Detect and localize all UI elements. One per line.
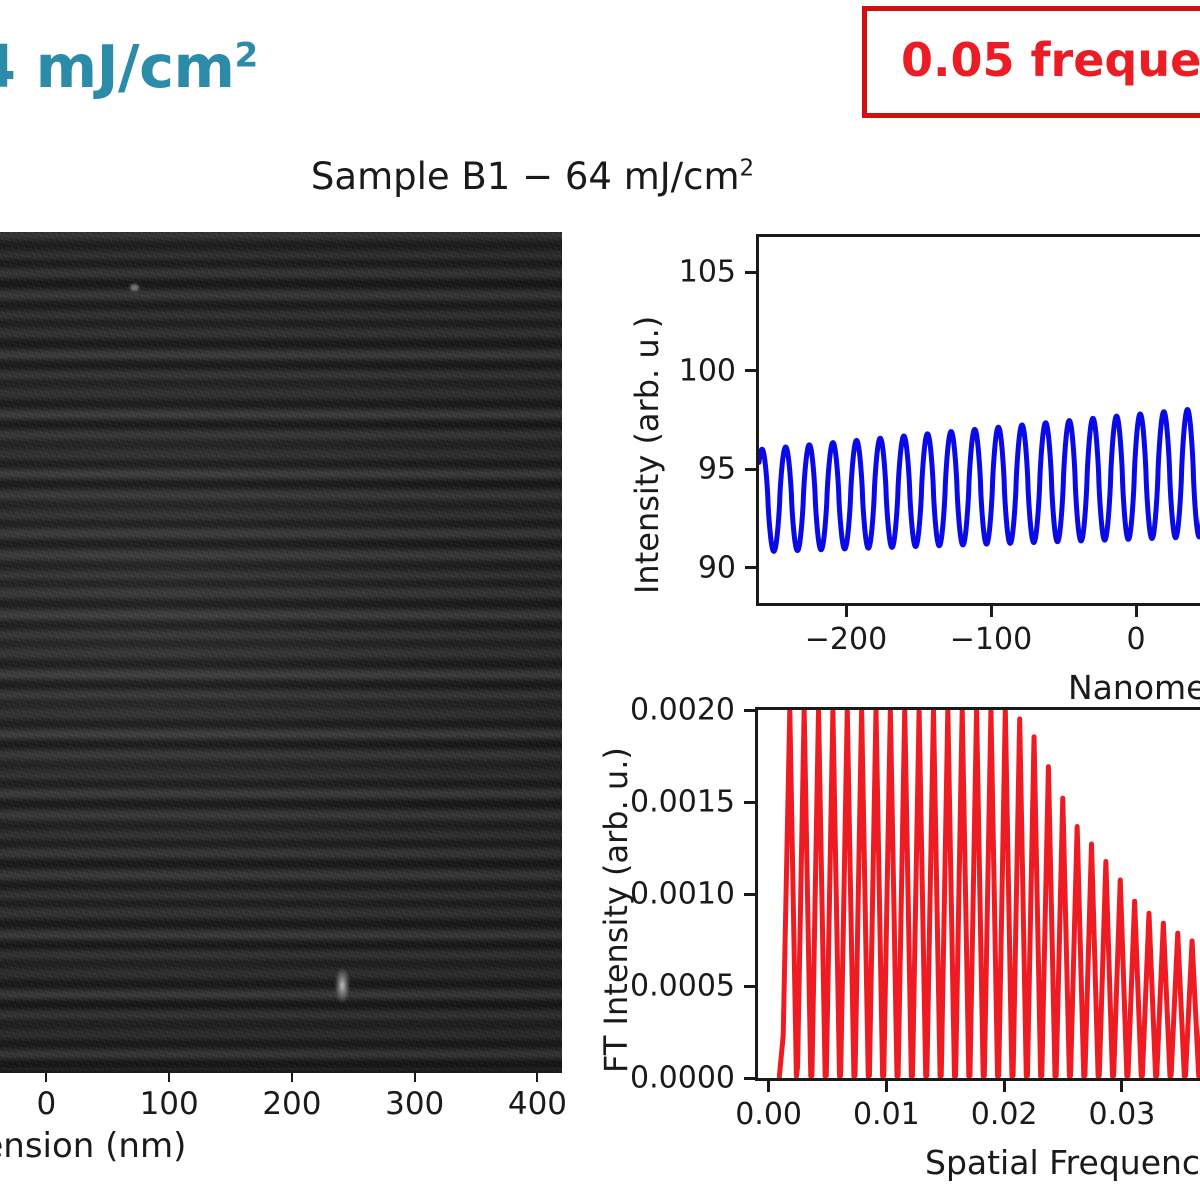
ft-y-tick-label: 0.0020 xyxy=(607,693,735,728)
ft-y-tick-mark xyxy=(744,709,755,712)
intensity-x-tick-mark xyxy=(845,606,848,617)
callout-box: 0.05 frequen xyxy=(862,6,1200,118)
sem-debris-particle xyxy=(333,967,350,1013)
ft-y-axis-label: FT Intensity (arb. u.) xyxy=(597,747,635,1073)
ft-x-tick-label: 0.01 xyxy=(853,1097,920,1132)
page-title: ose of 64 mJ/cm2 xyxy=(0,32,615,101)
sem-x-tick-label: 300 xyxy=(385,1086,444,1122)
ft-curve xyxy=(758,710,1200,1078)
sem-x-tick-label: 0 xyxy=(37,1086,57,1122)
sem-x-axis-label: Dimension (nm) xyxy=(0,1126,250,1166)
ft-y-tick-mark xyxy=(744,893,755,896)
page-title-superscript: 2 xyxy=(235,35,258,75)
ft-plot-area xyxy=(758,710,1200,1078)
intensity-y-tick-mark xyxy=(745,468,756,471)
intensity-x-tick-mark xyxy=(1135,606,1138,617)
figure-title-superscript: 2 xyxy=(740,156,755,182)
sem-vignette xyxy=(0,232,562,1070)
ft-x-tick-label: 0.00 xyxy=(735,1097,802,1132)
sem-x-tick-label: 200 xyxy=(262,1086,321,1122)
ft-x-tick-label: 0.03 xyxy=(1088,1097,1155,1132)
ft-y-tick-mark xyxy=(744,1077,755,1080)
ft-x-tick-label: 0.02 xyxy=(971,1097,1038,1132)
figure-title-text: Sample B1 − 64 mJ/cm xyxy=(311,155,740,198)
sem-bright-speck xyxy=(130,284,139,291)
ft-x-tick-mark xyxy=(767,1081,770,1092)
sem-x-tick-label: 100 xyxy=(140,1086,199,1122)
sem-x-axis-line xyxy=(0,1070,562,1073)
sem-x-tick-label: 400 xyxy=(508,1086,567,1122)
intensity-curve xyxy=(759,237,1200,603)
figure-title: Sample B1 − 64 mJ/cm2 xyxy=(0,155,1065,198)
ft-x-tick-mark xyxy=(1003,1081,1006,1092)
sem-micrograph-panel xyxy=(0,232,562,1070)
intensity-x-tick-label: −100 xyxy=(950,622,1032,657)
intensity-x-tick-label: 0 xyxy=(1126,622,1145,657)
ft-y-tick-mark xyxy=(744,801,755,804)
callout-text: 0.05 frequen xyxy=(901,33,1200,87)
sem-x-tick-mark xyxy=(414,1070,416,1082)
page-title-text: ose of 64 mJ/cm xyxy=(0,32,235,101)
sem-image xyxy=(0,232,562,1070)
ft-x-tick-mark xyxy=(885,1081,888,1092)
intensity-y-tick-label: 105 xyxy=(636,255,736,290)
intensity-y-tick-mark xyxy=(745,566,756,569)
intensity-y-tick-mark xyxy=(745,271,756,274)
sem-x-tick-mark xyxy=(45,1070,47,1082)
sem-x-tick-mark xyxy=(168,1070,170,1082)
slide-canvas: ose of 64 mJ/cm2 0.05 frequen Sample B1 … xyxy=(0,0,1200,1200)
intensity-plot-area xyxy=(759,237,1200,603)
sem-x-tick-mark xyxy=(291,1070,293,1082)
intensity-x-axis-label: Nanometers xyxy=(1068,668,1200,707)
sem-x-tick-mark xyxy=(536,1070,538,1082)
intensity-y-tick-mark xyxy=(745,369,756,372)
intensity-y-axis-label: Intensity (arb. u.) xyxy=(628,316,666,594)
intensity-x-tick-mark xyxy=(990,606,993,617)
ft-y-tick-mark xyxy=(744,985,755,988)
intensity-x-tick-label: −200 xyxy=(805,622,887,657)
ft-x-axis-label: Spatial Frequency xyxy=(925,1143,1200,1182)
ft-x-tick-mark xyxy=(1120,1081,1123,1092)
